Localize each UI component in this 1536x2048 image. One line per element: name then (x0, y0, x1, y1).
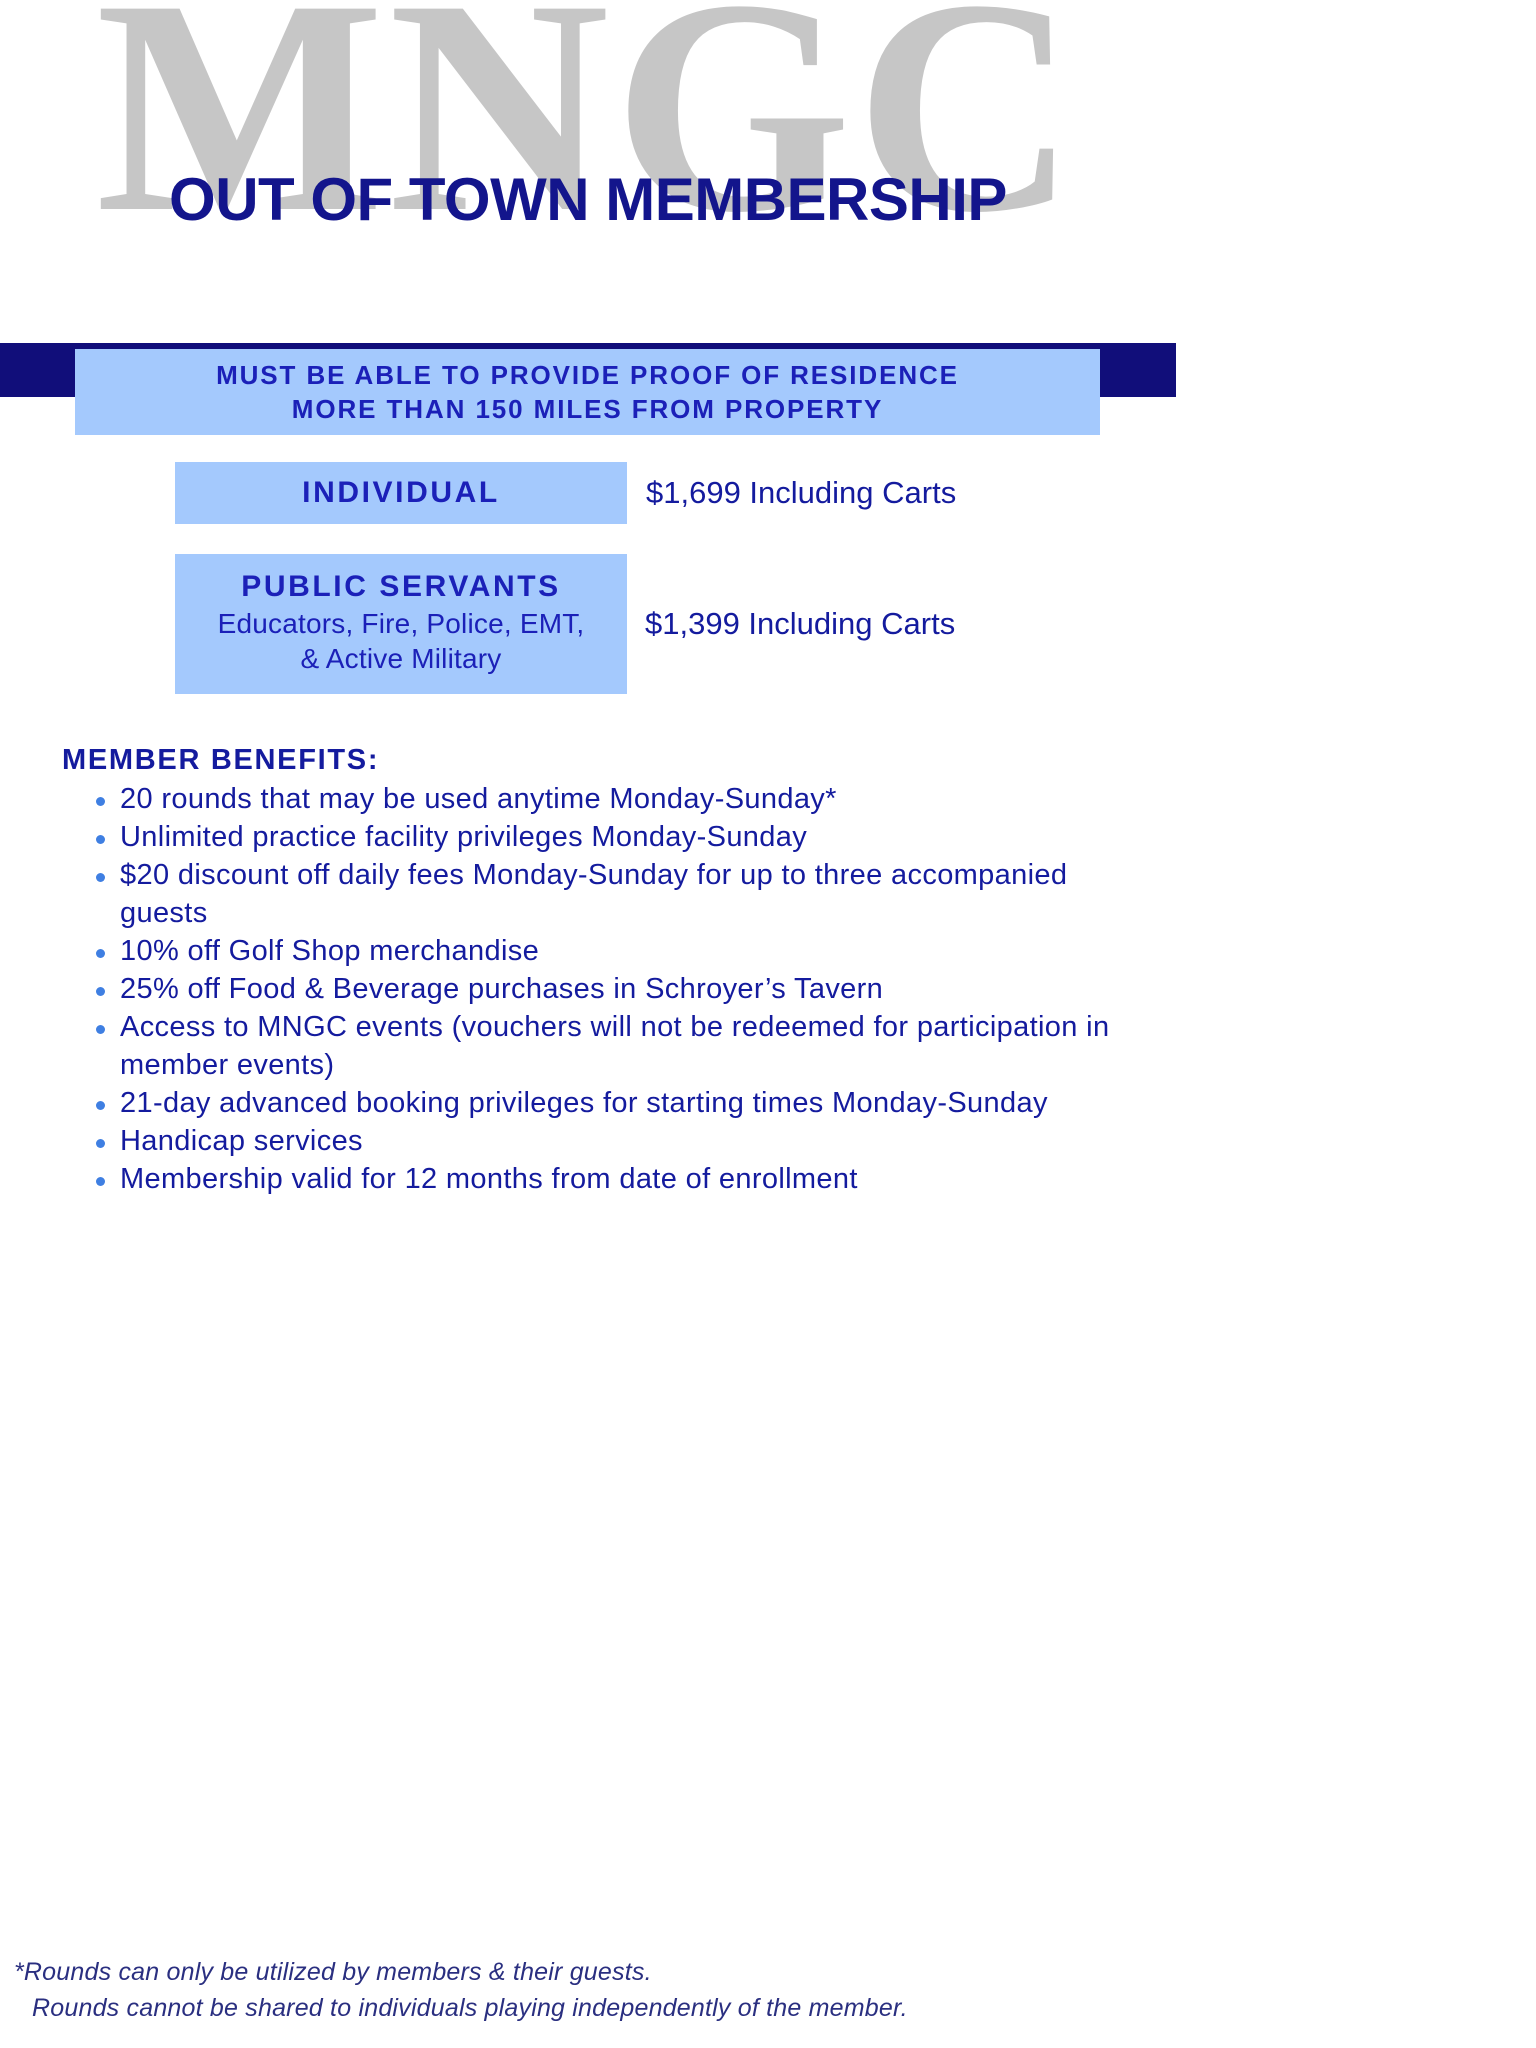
tier-name-public-servants: PUBLIC SERVANTS (241, 570, 561, 604)
benefit-item: 25% off Food & Beverage purchases in Sch… (92, 971, 1132, 1009)
residence-requirement-line-2: MORE THAN 150 MILES FROM PROPERTY (292, 392, 883, 426)
member-benefits-section: MEMBER BENEFITS: 20 rounds that may be u… (62, 744, 1132, 1199)
benefit-item: 10% off Golf Shop merchandise (92, 933, 1132, 971)
tier-price-individual: $1,699 Including Carts (646, 475, 956, 511)
tier-row-public-servants: PUBLIC SERVANTS Educators, Fire, Police,… (175, 554, 955, 694)
page-title: OUT OF TOWN MEMBERSHIP (0, 168, 1176, 231)
flyer-page: MNGC OUT OF TOWN MEMBERSHIP NEW MEMBERSH… (0, 0, 1176, 2048)
footnote: *Rounds can only be utilized by members … (14, 1955, 1164, 2026)
member-benefits-heading: MEMBER BENEFITS: (62, 744, 1132, 777)
tier-label-box-individual: INDIVIDUAL (175, 462, 627, 524)
benefit-item: Handicap services (92, 1123, 1132, 1161)
member-benefits-list: 20 rounds that may be used anytime Monda… (62, 781, 1132, 1199)
benefit-item: 20 rounds that may be used anytime Monda… (92, 781, 1132, 819)
tier-label-box-public-servants: PUBLIC SERVANTS Educators, Fire, Police,… (175, 554, 627, 694)
tier-row-individual: INDIVIDUAL $1,699 Including Carts (175, 462, 956, 524)
footnote-line-1: *Rounds can only be utilized by members … (14, 1955, 1164, 1991)
header: MNGC OUT OF TOWN MEMBERSHIP (0, 0, 1176, 343)
benefit-item: $20 discount off daily fees Monday-Sunda… (92, 857, 1132, 933)
benefit-item: 21-day advanced booking privileges for s… (92, 1085, 1132, 1123)
residence-requirement-box: MUST BE ABLE TO PROVIDE PROOF OF RESIDEN… (75, 349, 1100, 435)
benefit-item: Membership valid for 12 months from date… (92, 1161, 1132, 1199)
benefit-item: Unlimited practice facility privileges M… (92, 819, 1132, 857)
tier-name-individual: INDIVIDUAL (302, 476, 500, 510)
tier-price-public-servants: $1,399 Including Carts (645, 606, 955, 642)
residence-requirement-line-1: MUST BE ABLE TO PROVIDE PROOF OF RESIDEN… (216, 358, 959, 392)
footnote-line-2: Rounds cannot be shared to individuals p… (14, 1991, 1164, 2027)
benefit-item: Access to MNGC events (vouchers will not… (92, 1009, 1132, 1085)
tier-subtitle-public-servants-line-2: & Active Military (301, 642, 502, 676)
tier-subtitle-public-servants-line-1: Educators, Fire, Police, EMT, (218, 607, 585, 641)
